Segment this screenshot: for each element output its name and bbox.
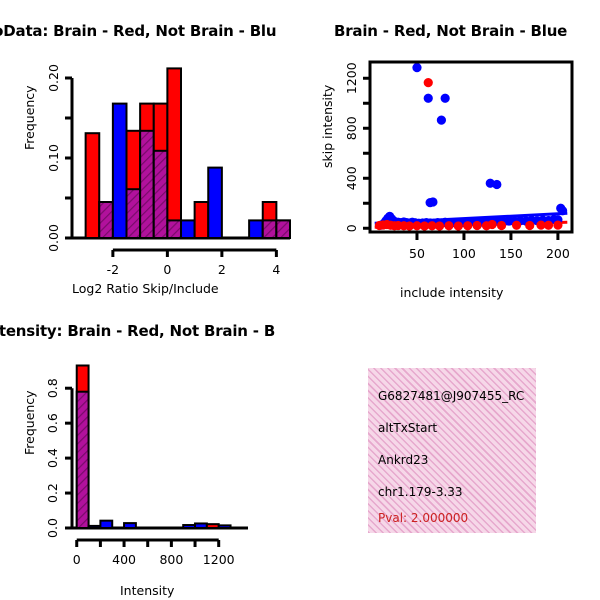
- histogram-bar: [113, 104, 127, 238]
- histogram-bar: [124, 523, 136, 528]
- histogram-bar-overlap: [167, 220, 181, 238]
- plot-frame: [370, 62, 572, 232]
- info-pval: Pval: 2.000000: [378, 511, 468, 525]
- histogram-bar: [208, 168, 222, 238]
- intensity-scatter-panel: Brain - Red, Not Brain - Blue 0400800120…: [300, 0, 600, 310]
- x-axis-tick-label: 100: [452, 246, 476, 261]
- scatter-point: [435, 221, 444, 230]
- y-axis-tick-label: 0.0: [45, 518, 60, 538]
- scatter-point: [553, 221, 562, 230]
- ratio-histogram-ylabel: Frequency: [22, 85, 37, 150]
- histogram-bar: [181, 220, 195, 238]
- histogram-bar-overlap: [99, 202, 113, 238]
- y-axis-tick-label: 0.10: [46, 144, 61, 172]
- histogram-bar-overlap: [154, 151, 168, 238]
- intensity-histogram-svg: 0.00.20.40.60.804008001200: [0, 300, 310, 600]
- scatter-point: [492, 180, 501, 189]
- scatter-point: [473, 221, 482, 230]
- event-info-box: G6827481@J907455_RC altTxStart Ankrd23 c…: [368, 368, 536, 533]
- scatter-point: [437, 116, 446, 125]
- histogram-bar-overlap: [127, 189, 141, 238]
- x-axis-tick-label: 1200: [203, 552, 235, 567]
- scatter-point: [525, 221, 534, 230]
- scatter-point: [558, 206, 567, 215]
- intensity-scatter-xlabel: include intensity: [400, 285, 503, 300]
- y-axis-tick-label: 400: [344, 166, 359, 190]
- histogram-bar: [89, 526, 101, 528]
- x-axis-tick-label: 0: [73, 552, 81, 567]
- intensity-histogram-xlabel: Intensity: [120, 583, 174, 598]
- y-axis-tick-label: 0.8: [45, 378, 60, 398]
- y-axis-tick-label: 0.2: [45, 483, 60, 503]
- intensity-scatter-title: Brain - Red, Not Brain - Blue: [334, 22, 567, 40]
- x-axis-tick-label: 800: [159, 552, 183, 567]
- y-axis-tick-label: 0.00: [46, 224, 61, 252]
- intensity-histogram-panel: ne Itensity: Brain - Red, Not Brain - B …: [0, 300, 310, 600]
- scatter-point: [482, 221, 491, 230]
- info-probe-id: G6827481@J907455_RC: [378, 389, 524, 403]
- scatter-point: [463, 221, 472, 230]
- histogram-bar-overlap: [276, 220, 290, 238]
- histogram-bar: [249, 220, 263, 238]
- y-axis-tick-label: 0: [344, 224, 359, 232]
- scatter-point: [424, 78, 433, 87]
- x-axis-tick-label: -2: [107, 262, 119, 277]
- info-gene: Ankrd23: [378, 453, 428, 467]
- scatter-point: [497, 221, 506, 230]
- y-axis-tick-label: 0.4: [45, 448, 60, 468]
- histogram-bar-overlap: [140, 131, 154, 238]
- histogram-bar-overlap: [263, 220, 277, 238]
- ratio-histogram-title: RatioData: Brain - Red, Not Brain - Blu: [0, 22, 276, 40]
- x-axis-tick-label: 2: [218, 262, 226, 277]
- scatter-point: [441, 94, 450, 103]
- x-axis-tick-label: 4: [272, 262, 280, 277]
- histogram-bar: [195, 202, 209, 238]
- scatter-point: [428, 197, 437, 206]
- scatter-point: [412, 63, 421, 72]
- scatter-points-group: [375, 63, 568, 231]
- intensity-scatter-svg: 0400800120050100150200: [300, 0, 600, 310]
- scatter-point: [512, 221, 521, 230]
- x-axis-tick-label: 200: [546, 246, 570, 261]
- histogram-bar-overlap: [77, 392, 89, 528]
- intensity-histogram-ylabel: Frequency: [22, 390, 37, 455]
- histogram-bar: [207, 524, 219, 528]
- info-event-type: altTxStart: [378, 421, 437, 435]
- scatter-point: [544, 221, 553, 230]
- info-locus: chr1.179-3.33: [378, 485, 463, 499]
- histogram-bar: [86, 133, 100, 238]
- x-axis-tick-label: 150: [499, 246, 523, 261]
- y-axis-tick-label: 800: [344, 116, 359, 140]
- x-axis-tick-label: 400: [112, 552, 136, 567]
- y-axis-tick-label: 1200: [344, 62, 359, 94]
- ratio-histogram-panel: RatioData: Brain - Red, Not Brain - Blu …: [0, 0, 310, 310]
- y-axis-tick-label: 0.20: [46, 64, 61, 92]
- histogram-bar: [100, 521, 112, 528]
- histogram-bar: [183, 525, 195, 528]
- histogram-bar: [219, 525, 231, 528]
- scatter-point: [454, 221, 463, 230]
- x-axis-tick-label: 50: [409, 246, 425, 261]
- y-axis-tick-label: 0.6: [45, 413, 60, 433]
- scatter-point: [424, 94, 433, 103]
- ratio-histogram-xlabel: Log2 Ratio Skip/Include: [72, 281, 219, 296]
- intensity-histogram-title: ne Itensity: Brain - Red, Not Brain - B: [0, 322, 275, 340]
- scatter-point: [444, 221, 453, 230]
- ratio-histogram-svg: 0.000.100.20-2024: [0, 0, 310, 310]
- x-axis-tick-label: 0: [163, 262, 171, 277]
- intensity-scatter-ylabel: skip intensity: [320, 85, 335, 168]
- histogram-bar: [195, 523, 207, 528]
- histogram-bar: [167, 68, 181, 238]
